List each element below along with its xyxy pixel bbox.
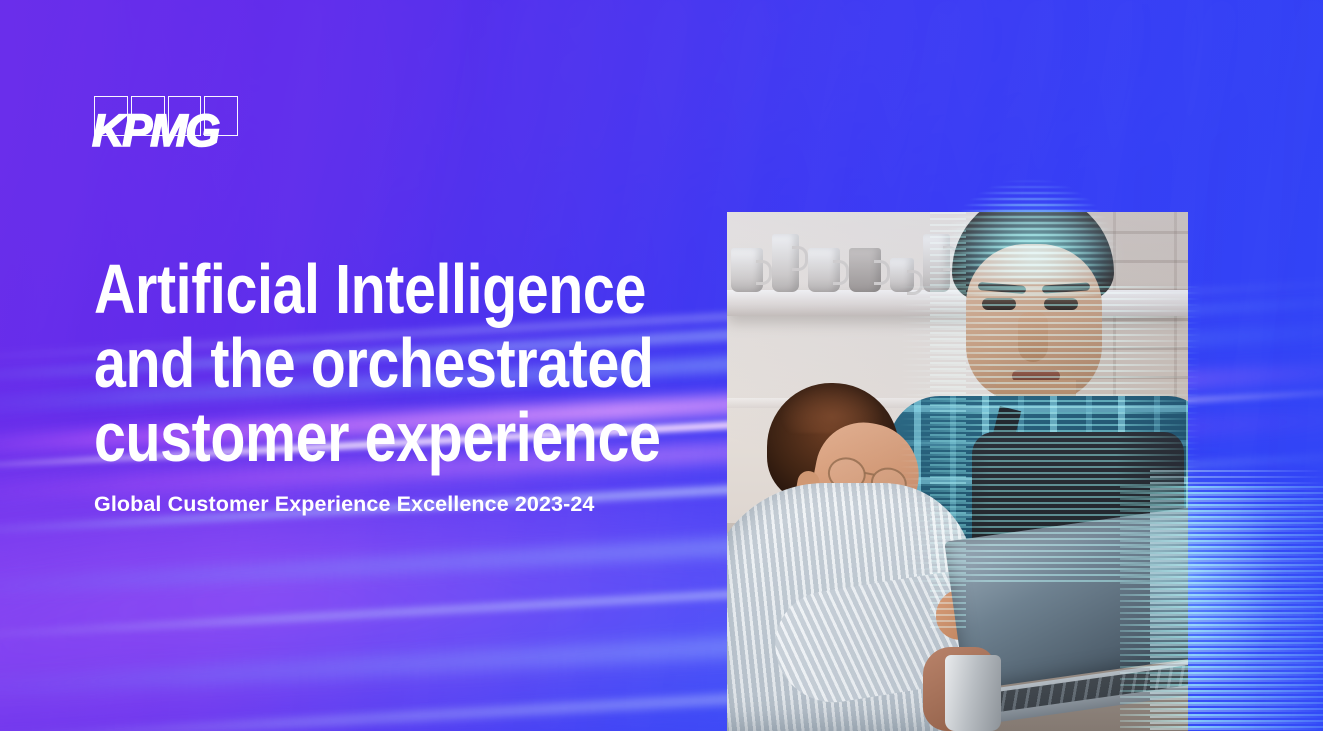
photo-mug [731,248,763,292]
kpmg-logo: KPMG [94,96,238,152]
photo-mug [849,248,881,292]
man-nose [1018,312,1048,362]
cover-copy: Artificial Intelligence and the orchestr… [94,252,714,517]
page-subtitle: Global Customer Experience Excellence 20… [94,492,714,517]
page-title-line-2: and the orchestrated [94,326,602,400]
photo-mug [808,248,840,292]
kpmg-logo-wordmark: KPMG [92,108,242,153]
page-title-line-3: customer experience [94,400,602,474]
cover-photo [727,212,1188,731]
man-eye [1044,298,1078,310]
man-eye [982,298,1016,310]
report-cover: KPMG Artificial Intelligence and the orc… [0,0,1323,731]
page-title: Artificial Intelligence and the orchestr… [94,252,602,474]
page-title-line-1: Artificial Intelligence [94,252,602,326]
cover-photo-scene [727,212,1188,731]
photo-cup [945,655,1001,731]
photo-mug [772,234,799,292]
